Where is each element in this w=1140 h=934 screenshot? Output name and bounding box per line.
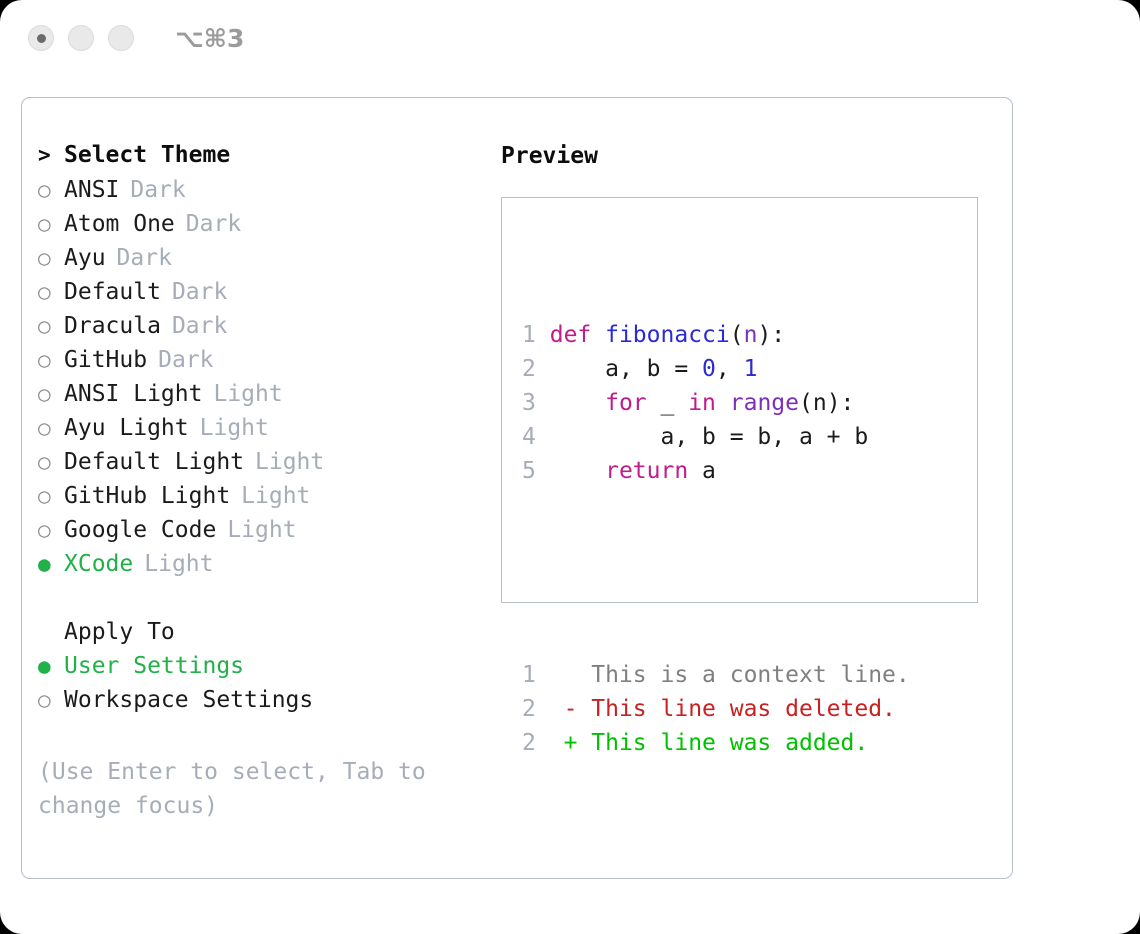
code-lines: 1 def fibonacci(n):2 a, b = 0, 13 for _ … [522,318,910,488]
radio-unselected-icon: ○ [38,212,64,236]
prompt-caret-icon: > [38,143,64,167]
theme-variant: Dark [130,177,185,203]
list-spacer [38,585,488,619]
theme-variant: Light [227,517,296,543]
diff-line: 2 + This line was added. [522,726,910,760]
code-token [550,458,605,484]
code-line-number: 3 [522,390,536,416]
code-token: _ [647,390,689,416]
code-token: for [605,390,647,416]
theme-name: XCode [64,551,133,577]
diff-line: 1 This is a context line. [522,658,910,692]
radio-selected-icon: ● [38,654,64,678]
app-window: ⌥⌘3 >Select Theme ○ANSIDark○Atom OneDark… [0,0,1140,934]
theme-name: GitHub Light [64,483,230,509]
code-line-number: 5 [522,458,536,484]
diff-gutter-space [536,662,564,688]
theme-name: Dracula [64,313,161,339]
window-dot-2[interactable] [68,25,94,51]
theme-variant: Light [200,415,269,441]
theme-list-item[interactable]: ○Ayu LightLight [38,415,488,449]
code-line: 2 a, b = 0, 1 [522,352,910,386]
theme-variant: Light [255,449,324,475]
code-token: def [550,322,605,348]
diff-sign: + [564,730,578,756]
theme-variant: Light [213,381,282,407]
apply-to-list: ●User Settings○Workspace Settings [38,653,488,721]
preview-column: Preview 1 def fibonacci(n):2 a, b = 0, 1… [501,142,991,603]
diff-line: 2 - This line was deleted. [522,692,910,726]
diff-text: This is a context line. [577,662,909,688]
theme-name: ANSI [64,177,119,203]
theme-list: ○ANSIDark○Atom OneDark○AyuDark○DefaultDa… [38,177,488,585]
theme-variant: Light [241,483,310,509]
radio-unselected-icon: ○ [38,518,64,542]
keyboard-hint-text: (Use Enter to select, Tab to change focu… [38,755,458,823]
code-token: , [716,356,744,382]
code-gutter-space [536,356,550,382]
code-token: a [688,458,716,484]
theme-picker-column: >Select Theme ○ANSIDark○Atom OneDark○Ayu… [38,142,488,823]
radio-unselected-icon: ○ [38,246,64,270]
code-line-number: 4 [522,424,536,450]
theme-variant: Dark [117,245,172,271]
code-line: 3 for _ in range(n): [522,386,910,420]
code-token [550,390,605,416]
theme-list-item[interactable]: ○Google CodeLight [38,517,488,551]
radio-unselected-icon: ○ [38,382,64,406]
code-diff-spacer [522,556,910,590]
theme-list-item[interactable]: ○AyuDark [38,245,488,279]
preview-title: Preview [501,142,991,176]
theme-name: Default [64,279,161,305]
keyboard-shortcut-label: ⌥⌘3 [175,24,244,53]
code-line: 1 def fibonacci(n): [522,318,910,352]
code-token: ( [730,322,744,348]
diff-text: This line was deleted. [577,696,896,722]
radio-unselected-icon: ○ [38,178,64,202]
diff-line-number: 1 [522,662,536,688]
window-dot-active-indicator [37,34,46,43]
theme-list-item[interactable]: ○Atom OneDark [38,211,488,245]
code-token: n [744,322,758,348]
diff-line-number: 2 [522,730,536,756]
diff-lines: 1 This is a context line.2 - This line w… [522,658,910,760]
theme-variant: Dark [172,279,227,305]
title-bar: ⌥⌘3 [0,0,1140,76]
theme-name: GitHub [64,347,147,373]
code-gutter-space [536,424,550,450]
code-line-number: 1 [522,322,536,348]
theme-list-item[interactable]: ○DefaultDark [38,279,488,313]
theme-variant: Dark [186,211,241,237]
code-gutter-space [536,390,550,416]
diff-sign [564,662,578,688]
theme-name: Atom One [64,211,175,237]
apply-to-header-label: Apply To [64,619,175,645]
code-line: 4 a, b = b, a + b [522,420,910,454]
code-token: range [730,390,799,416]
theme-list-item[interactable]: ○GitHub LightLight [38,483,488,517]
radio-unselected-icon: ○ [38,688,64,712]
theme-name: Ayu Light [64,415,189,441]
select-theme-header: >Select Theme [38,142,488,176]
apply-to-label: Workspace Settings [64,687,313,713]
diff-sign: - [564,696,578,722]
diff-gutter-space [536,730,564,756]
apply-to-item[interactable]: ●User Settings [38,653,488,687]
apply-to-marker-spacer: ○ [38,620,64,644]
code-line-number: 2 [522,356,536,382]
window-controls [28,25,134,51]
theme-list-item[interactable]: ○Default LightLight [38,449,488,483]
code-line: 5 return a [522,454,910,488]
theme-name: ANSI Light [64,381,202,407]
radio-unselected-icon: ○ [38,484,64,508]
radio-unselected-icon: ○ [38,348,64,372]
code-token: 1 [744,356,758,382]
diff-text: This line was added. [577,730,868,756]
code-token: in [688,390,716,416]
theme-variant: Dark [158,347,213,373]
diff-line-number: 2 [522,696,536,722]
theme-name: Default Light [64,449,244,475]
select-theme-header-label: Select Theme [64,142,230,168]
code-token [716,390,730,416]
code-token: fibonacci [605,322,730,348]
radio-unselected-icon: ○ [38,416,64,440]
main-panel: >Select Theme ○ANSIDark○Atom OneDark○Ayu… [21,97,1013,879]
radio-unselected-icon: ○ [38,450,64,474]
theme-list-item[interactable]: ○DraculaDark [38,313,488,347]
diff-gutter-space [536,696,564,722]
window-dot-3[interactable] [108,25,134,51]
code-token: (n): [799,390,854,416]
theme-list-item[interactable]: ●XCodeLight [38,551,488,585]
code-token: ): [757,322,785,348]
code-token: 0 [702,356,716,382]
radio-selected-icon: ● [38,552,64,576]
theme-name: Ayu [64,245,106,271]
code-token: a, b = b, a + b [550,424,869,450]
preview-code: 1 def fibonacci(n):2 a, b = 0, 13 for _ … [522,250,910,828]
preview-box: 1 def fibonacci(n):2 a, b = 0, 13 for _ … [501,197,978,603]
theme-name: Google Code [64,517,216,543]
radio-unselected-icon: ○ [38,280,64,304]
radio-unselected-icon: ○ [38,314,64,338]
code-gutter-space [536,458,550,484]
apply-to-header: ○Apply To [38,619,488,653]
code-gutter-space [536,322,550,348]
apply-to-item[interactable]: ○Workspace Settings [38,687,488,721]
code-token: a, b = [550,356,702,382]
theme-list-item[interactable]: ○GitHubDark [38,347,488,381]
theme-variant: Dark [172,313,227,339]
theme-list-item[interactable]: ○ANSIDark [38,177,488,211]
theme-list-item[interactable]: ○ANSI LightLight [38,381,488,415]
window-dot-active[interactable] [28,25,54,51]
theme-variant: Light [144,551,213,577]
apply-to-label: User Settings [64,653,244,679]
code-token: return [605,458,688,484]
